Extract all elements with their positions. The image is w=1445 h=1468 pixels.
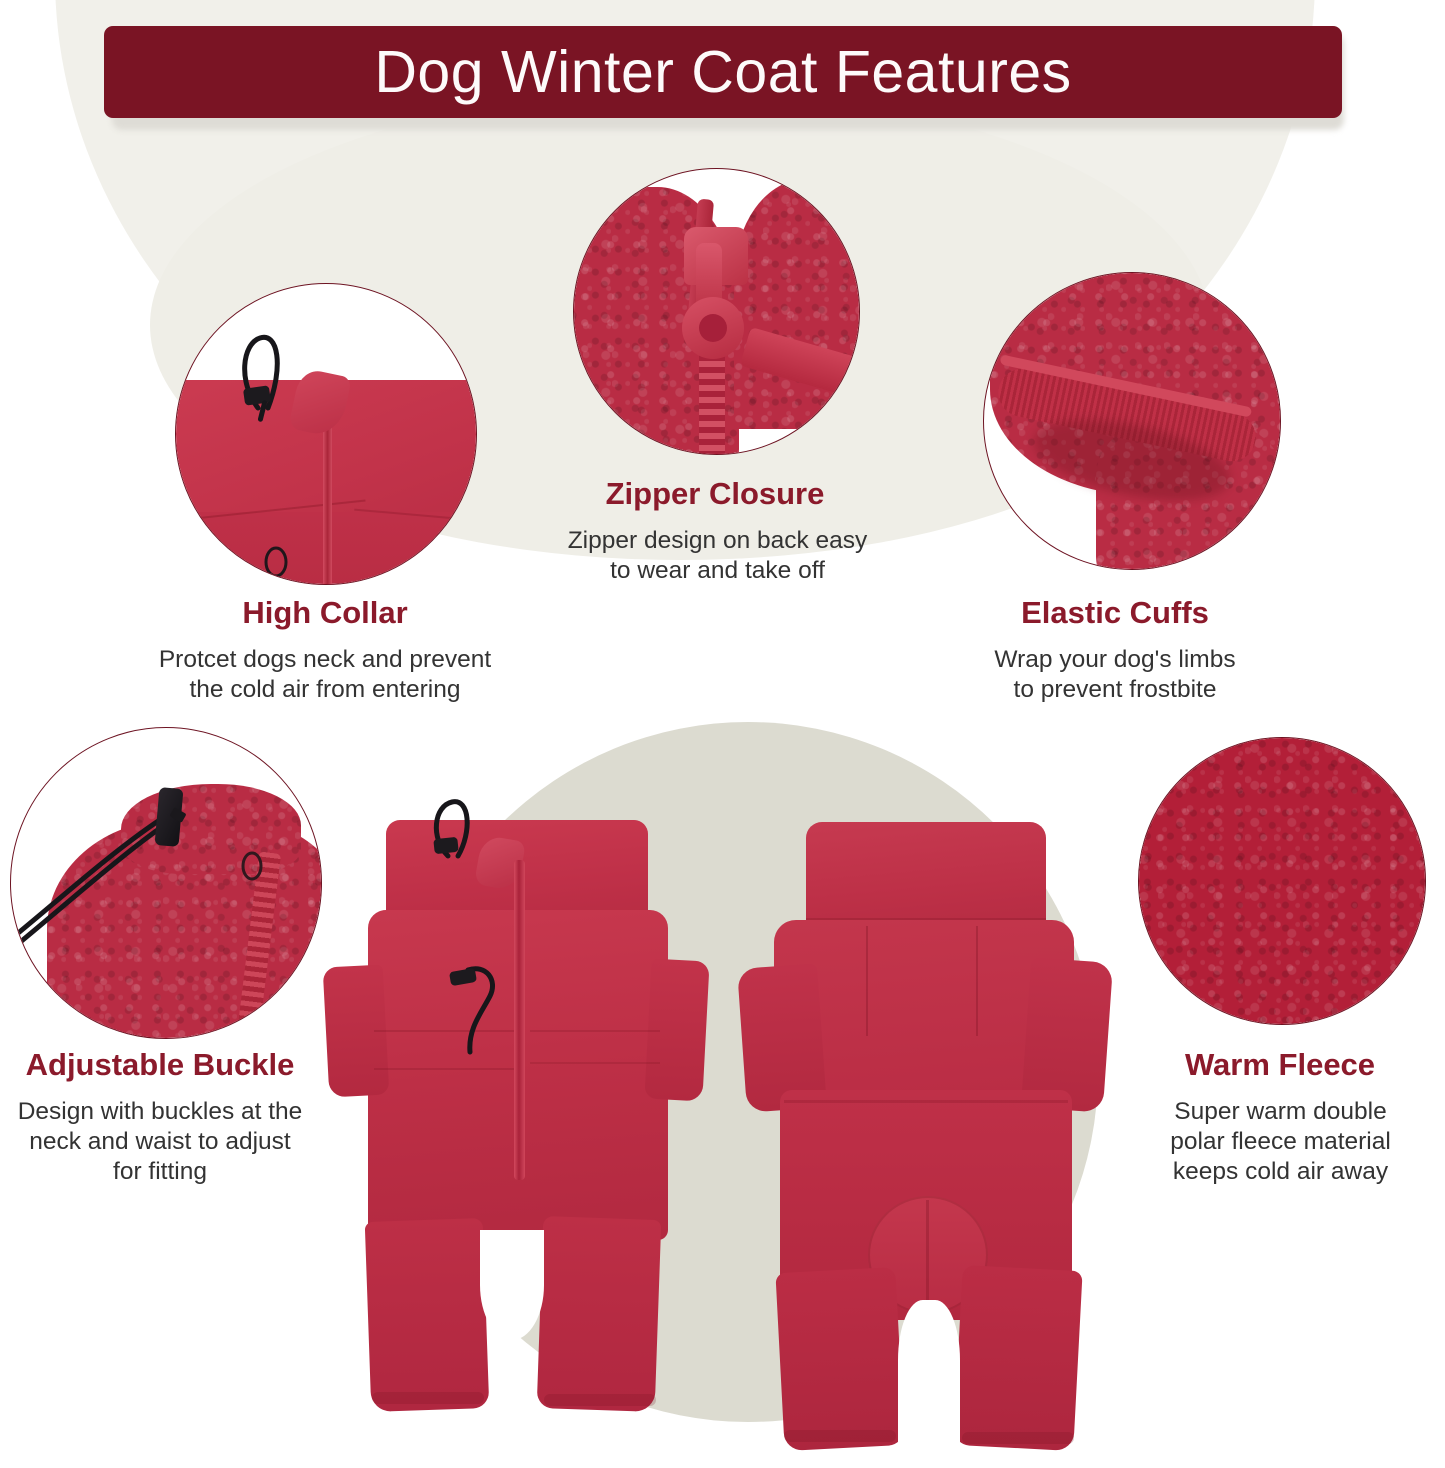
buckle-desc-line-1: Design with buckles at the [5,1097,315,1127]
fleece-texture-swatch [1139,738,1425,1024]
front-leg-right [537,1216,662,1412]
front-seam-right-upper [530,1030,660,1032]
buckle-desc-line-3: for fitting [5,1157,315,1187]
high-collar-desc-line-2: the cold air from entering [110,675,540,705]
back-seam-right [976,926,978,1036]
back-leg-right-cuff [962,1432,1074,1444]
front-leg-left [365,1218,490,1412]
fleece-desc-line-2: polar fleece material [1128,1127,1433,1157]
back-waist-seam [784,1100,1068,1103]
front-leg-gap [480,1230,544,1340]
elastic-cuffs-description: Wrap your dog's limbs to prevent frostbi… [945,645,1285,705]
high-collar-description: Protcet dogs neck and prevent the cold a… [110,645,540,705]
high-collar-heading: High Collar [145,596,505,631]
fleece-desc-line-1: Super warm double [1128,1097,1433,1127]
elastic-cuffs-image [983,272,1281,570]
adjustable-buckle-image [10,727,322,1039]
product-back-view [740,800,1110,1450]
product-front-view [318,800,708,1450]
back-leg-left-cuff [784,1430,896,1442]
front-seam-right-lower [530,1062,660,1064]
zipper-closure-heading: Zipper Closure [555,477,875,512]
back-leg-left [775,1267,904,1451]
buckle-loop-icon [233,844,271,888]
collar-zipper-track [323,414,332,584]
high-collar-desc-line-1: Protcet dogs neck and prevent [110,645,540,675]
elastic-cuffs-heading: Elastic Cuffs [955,596,1275,631]
fleece-desc-line-3: keeps cold air away [1128,1157,1433,1187]
warm-fleece-heading: Warm Fleece [1130,1048,1430,1083]
back-rear-opening-seam [926,1200,929,1310]
front-leg-left-cuff [372,1392,484,1404]
high-collar-image [175,283,477,585]
title-banner: Dog Winter Coat Features [104,26,1342,118]
warm-fleece-description: Super warm double polar fleece material … [1128,1097,1433,1187]
back-leg-right [953,1265,1082,1451]
zipper-desc-line-2: to wear and take off [525,556,910,586]
back-leg-gap [898,1300,960,1450]
collar-bottom-loop-icon [256,536,296,584]
cuffs-desc-line-1: Wrap your dog's limbs [945,645,1285,675]
warm-fleece-image [1138,737,1426,1025]
front-leg-right-cuff [544,1394,656,1406]
buckle-desc-line-2: neck and waist to adjust [5,1127,315,1157]
back-seam-left [866,926,868,1036]
front-collar-cord-lock [433,837,458,854]
adjustable-buckle-heading: Adjustable Buckle [0,1048,325,1083]
page-title: Dog Winter Coat Features [374,43,1071,102]
zipper-desc-line-1: Zipper design on back easy [525,526,910,556]
zipper-closure-description: Zipper design on back easy to wear and t… [525,526,910,586]
adjustable-buckle-description: Design with buckles at the neck and wais… [5,1097,315,1187]
cuffs-desc-line-2: to prevent frostbite [945,675,1285,705]
zipper-pull-ring-hole [699,314,727,342]
zipper-closure-image [573,168,860,455]
front-seam-left-lower [374,1068,514,1070]
